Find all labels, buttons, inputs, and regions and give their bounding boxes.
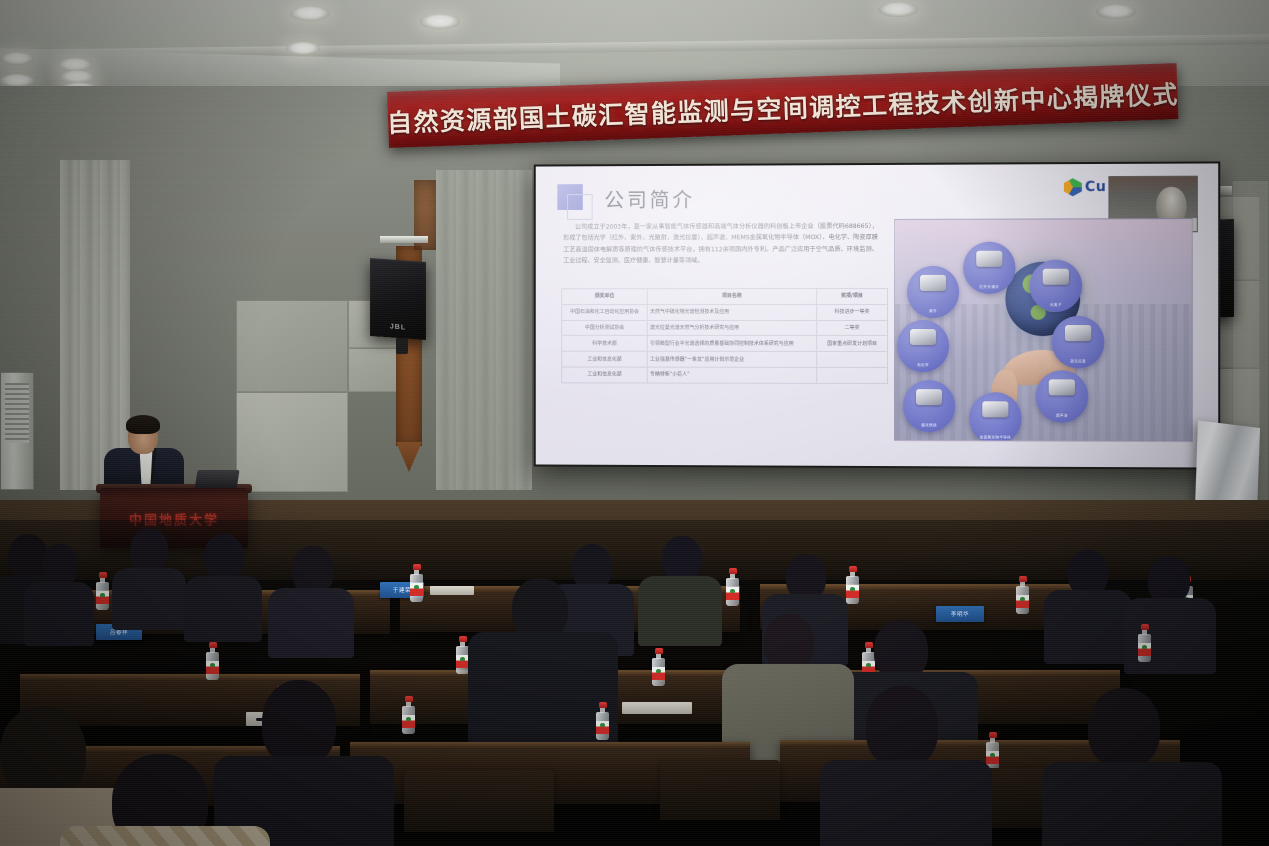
water-bottle bbox=[206, 642, 219, 680]
attendee-torso bbox=[60, 826, 270, 846]
product-node-label: 激光拉曼 bbox=[1070, 360, 1086, 365]
name-card-text: 李明华 bbox=[951, 610, 969, 618]
bottle-label bbox=[986, 751, 999, 764]
ac-vent bbox=[5, 383, 29, 443]
document-paper bbox=[430, 586, 474, 595]
attendee-head bbox=[1088, 688, 1160, 768]
table-header-cell: 颁奖单位 bbox=[562, 289, 648, 305]
attendee-head bbox=[874, 620, 928, 680]
table-cell: 激光拉曼光谱天然气分析技术研究与应用 bbox=[648, 320, 817, 336]
bottle-label bbox=[652, 667, 665, 680]
downlight-icon bbox=[420, 14, 460, 29]
table-row: 中国石油和化工自动化应用协会 天然气中硫化物光谱检测技术及应用 科技进步一等奖 bbox=[562, 304, 888, 320]
attendee-torso bbox=[820, 760, 992, 846]
product-node-label: 超声波 bbox=[1056, 414, 1068, 419]
presentation-slide: 公司简介 Cu 演讲 公司成立于2003年，是一家从事智能气体传感器 bbox=[549, 174, 1203, 462]
company-logo: Cu bbox=[1064, 178, 1107, 196]
water-bottle bbox=[846, 566, 859, 604]
downlight-icon bbox=[0, 52, 34, 65]
product-node-label: 光离子 bbox=[1050, 303, 1062, 308]
product-node: 超声波 bbox=[1036, 370, 1089, 422]
chair-back bbox=[404, 770, 554, 832]
table-row: 工业和信息化部 工业强基传感器“一条龙”应用计划示范企业 bbox=[562, 351, 888, 367]
product-thumbnail bbox=[916, 389, 942, 405]
table-cell: 工业和信息化部 bbox=[562, 367, 648, 383]
product-thumbnail bbox=[1043, 268, 1069, 284]
table-cell: 工业强基传感器“一条龙”应用计划示范企业 bbox=[648, 351, 817, 367]
table-cell: 中国分析测试协会 bbox=[562, 320, 648, 336]
attendee-head bbox=[1148, 556, 1190, 604]
attendee-head bbox=[292, 546, 334, 594]
product-node-label: 电化学 bbox=[917, 363, 929, 368]
desk-top bbox=[20, 674, 360, 680]
logo-text: Cu bbox=[1085, 179, 1107, 195]
attendee-torso bbox=[112, 568, 186, 630]
projection-screen-frame: 公司简介 Cu 演讲 公司成立于2003年，是一家从事智能气体传感器 bbox=[534, 161, 1220, 469]
attendee-head bbox=[0, 706, 86, 798]
attendee-torso bbox=[1042, 762, 1222, 846]
table-cell: 国家重点研发计划项目 bbox=[817, 336, 888, 352]
water-bottle bbox=[596, 702, 609, 740]
wall-tile bbox=[236, 392, 348, 492]
bottle-label bbox=[726, 587, 739, 600]
slide-body-text: 公司成立于2003年，是一家从事智能气体传感器和高端气体分析仪器的科创板上市企业… bbox=[563, 221, 878, 267]
downlight-icon bbox=[1096, 4, 1136, 19]
water-bottle bbox=[410, 564, 423, 602]
table-cell: 引领典型行业半光谱选择的质量基础协同控制技术体系研究与应用 bbox=[648, 336, 817, 352]
table-cell: 二等奖 bbox=[817, 320, 888, 336]
slide-accent-outline bbox=[567, 194, 593, 220]
product-thumbnail bbox=[982, 401, 1008, 417]
table-header-cell: 奖项/项目 bbox=[817, 288, 888, 304]
name-card: 李明华 bbox=[936, 606, 984, 622]
attendee-head bbox=[866, 686, 938, 768]
water-bottle bbox=[96, 572, 109, 610]
product-node-label: 紫外 bbox=[929, 309, 937, 314]
attendee-torso bbox=[184, 576, 262, 642]
table-row: 工业和信息化部 专精特新“小巨人” bbox=[562, 367, 888, 383]
table-cell: 专精特新“小巨人” bbox=[648, 367, 817, 383]
table-row: 科学技术部 引领典型行业半光谱选择的质量基础协同控制技术体系研究与应用 国家重点… bbox=[562, 336, 888, 352]
attendee-head bbox=[512, 578, 568, 640]
desk-top bbox=[350, 742, 750, 748]
attendee-head bbox=[204, 534, 244, 580]
air-conditioner-unit bbox=[0, 372, 34, 490]
cube-logo-icon bbox=[1064, 178, 1082, 196]
speaker-mount bbox=[396, 338, 408, 354]
table-cell: 科技进步一等奖 bbox=[817, 304, 888, 320]
table-cell: 中国石油和化工自动化应用协会 bbox=[562, 304, 648, 320]
wall-tile bbox=[236, 300, 348, 392]
product-thumbnail bbox=[920, 275, 946, 291]
product-node-label: 金属氧化物半导体 bbox=[980, 436, 1011, 441]
attendee-head bbox=[130, 528, 168, 572]
product-thumbnail bbox=[910, 329, 936, 345]
attendee-torso bbox=[24, 582, 94, 646]
product-node: 激光拉曼 bbox=[1052, 316, 1105, 368]
attendee-torso bbox=[268, 588, 354, 658]
speaker-brand-label: JBL bbox=[390, 323, 406, 331]
table-cell: 天然气中硫化物光谱检测技术及应用 bbox=[648, 304, 817, 320]
product-thumbnail bbox=[1065, 325, 1091, 341]
downlight-icon bbox=[286, 42, 320, 55]
attendee-head bbox=[262, 680, 336, 766]
product-node-label: 红外光谱仪 bbox=[980, 285, 1000, 290]
bottle-label bbox=[410, 583, 423, 596]
product-node: 光离子 bbox=[1030, 260, 1083, 312]
conference-hall-photo: JBL JBL 自然资源部国土碳汇智能监测与空间调控工程技术创新中心揭牌仪式 公… bbox=[0, 0, 1269, 846]
bottle-label bbox=[402, 715, 415, 728]
water-bottle bbox=[1138, 624, 1151, 662]
table-row: 中国分析测试协会 激光拉曼光谱天然气分析技术研究与应用 二等奖 bbox=[562, 320, 888, 336]
product-node: 红外光谱仪 bbox=[963, 242, 1015, 294]
attendee-head bbox=[764, 614, 814, 670]
bottle-label bbox=[1016, 595, 1029, 608]
presenter-hair bbox=[126, 415, 160, 434]
water-bottle bbox=[726, 568, 739, 606]
wall-speaker-left: JBL bbox=[370, 258, 426, 340]
product-node-label: 催化燃烧 bbox=[921, 423, 937, 428]
awards-table: 颁奖单位 项目名称 奖项/项目 中国石油和化工自动化应用协会 天然气中硫化物光谱… bbox=[561, 288, 888, 384]
table-header-row: 颁奖单位 项目名称 奖项/项目 bbox=[562, 288, 888, 304]
attendee-torso bbox=[1044, 590, 1132, 664]
attendee-head bbox=[42, 544, 78, 586]
stage-curtain bbox=[60, 160, 130, 490]
water-bottle bbox=[402, 696, 415, 734]
table-cell: 科学技术部 bbox=[562, 336, 648, 352]
water-bottle bbox=[1016, 576, 1029, 614]
product-node: 紫外 bbox=[907, 266, 959, 318]
bottle-label bbox=[1138, 643, 1151, 656]
table-cell: 工业和信息化部 bbox=[562, 351, 648, 367]
attendee-torso bbox=[638, 576, 722, 646]
table-cell bbox=[817, 367, 888, 383]
chair-back bbox=[660, 760, 780, 820]
bottle-label bbox=[596, 721, 609, 734]
stage-curtain bbox=[436, 170, 532, 490]
projection-screen: 公司简介 Cu 演讲 公司成立于2003年，是一家从事智能气体传感器 bbox=[536, 163, 1218, 467]
bottle-label bbox=[96, 591, 109, 604]
ceiling-light-strip bbox=[380, 236, 428, 243]
product-node: 电化学 bbox=[897, 320, 949, 372]
slide-title: 公司简介 bbox=[604, 184, 695, 213]
name-card-text: 于建荣 bbox=[393, 586, 411, 594]
bottle-label bbox=[846, 585, 859, 598]
downlight-icon bbox=[878, 2, 918, 17]
product-thumbnail bbox=[1049, 379, 1075, 395]
product-node: 金属氧化物半导体 bbox=[969, 392, 1021, 442]
table-cell bbox=[817, 352, 888, 368]
document-paper bbox=[622, 702, 692, 714]
bottle-label bbox=[206, 661, 219, 674]
audience-area: 吕春祥 于建荣 李明华 王振宇 bbox=[0, 520, 1269, 846]
water-bottle bbox=[652, 648, 665, 686]
table-header-cell: 项目名称 bbox=[648, 289, 817, 305]
product-ecosystem-image: 紫外 红外光谱仪 光离子 激光拉曼 bbox=[894, 218, 1193, 442]
product-node: 催化燃烧 bbox=[903, 380, 955, 432]
laptop bbox=[194, 470, 239, 490]
product-thumbnail bbox=[976, 250, 1002, 266]
water-bottle bbox=[986, 732, 999, 770]
downlight-icon bbox=[290, 6, 330, 21]
